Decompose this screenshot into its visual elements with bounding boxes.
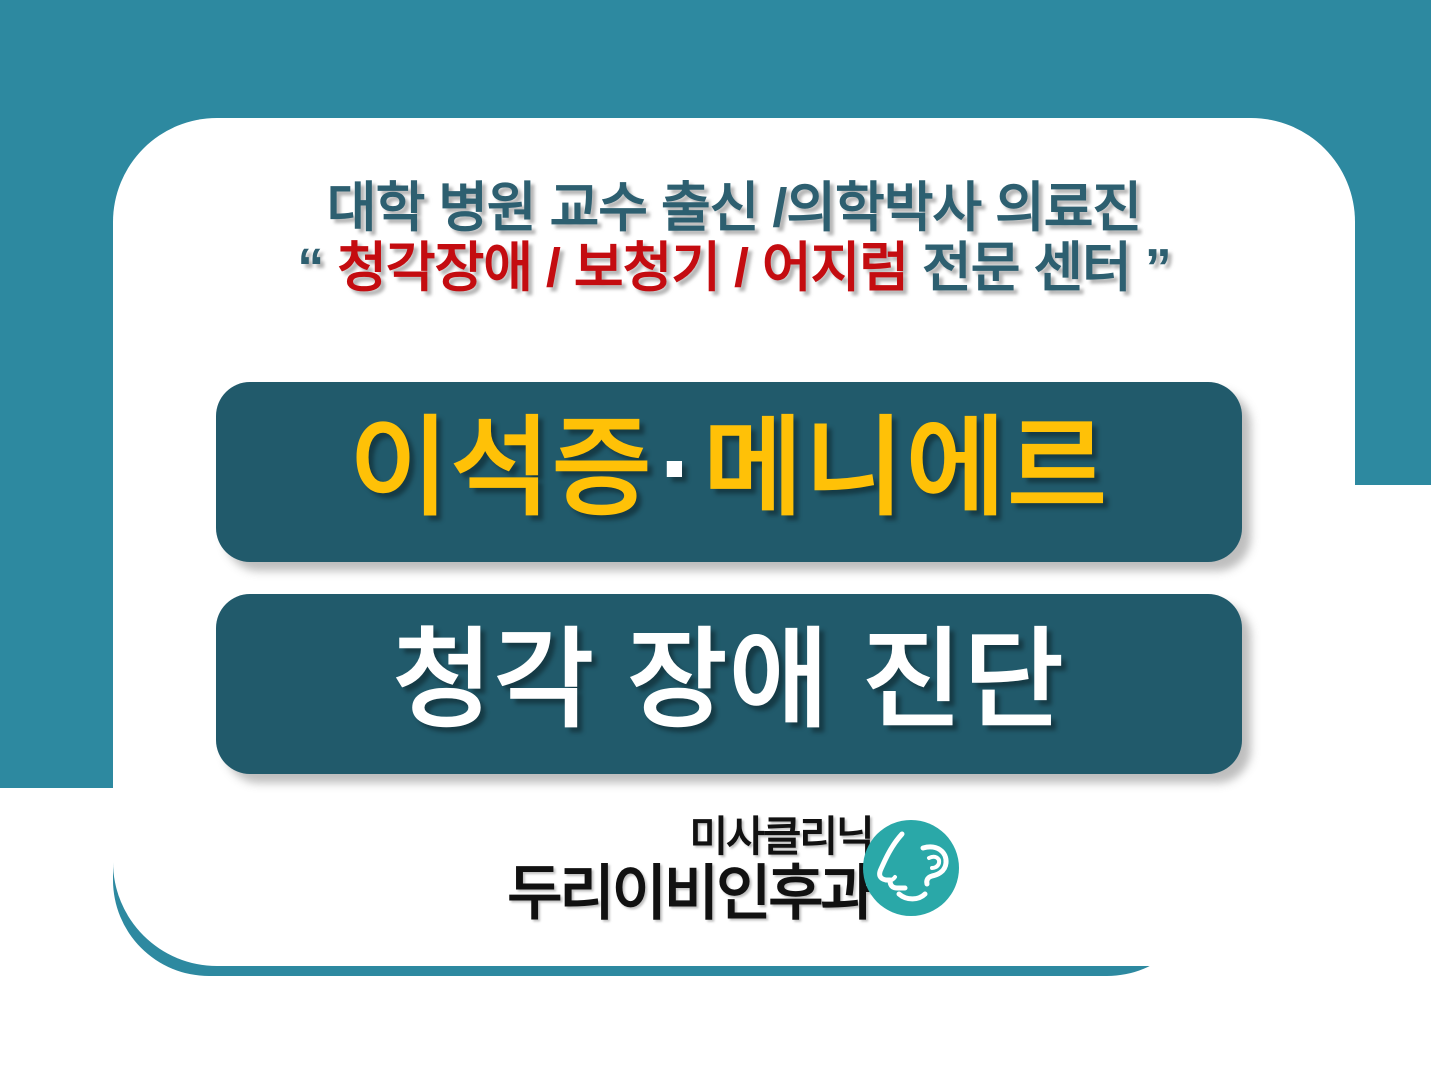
clinic-logo[interactable]: 미사클리닉 두리이비인후과: [113, 816, 1355, 924]
headline-specialties: 청각장애 / 보청기 / 어지럼: [337, 238, 908, 298]
clinic-name-line: 두리이비인후과: [507, 864, 872, 924]
content-card: 대학 병원 교수 출신 /의학박사 의료진 “ 청각장애 / 보청기 / 어지럼…: [113, 118, 1355, 966]
clinic-brand-line: 미사클리닉: [690, 816, 873, 858]
hearing-pill-label: 청각 장애 진단: [393, 626, 1065, 734]
headline-block: 대학 병원 교수 출신 /의학박사 의료진 “ 청각장애 / 보청기 / 어지럼…: [113, 180, 1355, 296]
headline-line-1: 대학 병원 교수 출신 /의학박사 의료진: [113, 180, 1355, 236]
headline-center-label: 전문 센터: [922, 238, 1131, 298]
close-quote: ”: [1145, 238, 1171, 298]
dizziness-pill[interactable]: 이석증·메니에르: [216, 382, 1242, 562]
open-quote: “: [297, 238, 323, 298]
dizziness-pill-label: 이석증·메니에르: [349, 414, 1109, 522]
separator-dot-icon: ·: [653, 407, 703, 528]
clinic-logo-wordmark: 미사클리닉 두리이비인후과: [507, 816, 874, 924]
dizziness-pill-label-right: 메니에르: [703, 407, 1108, 528]
hearing-pill[interactable]: 청각 장애 진단: [216, 594, 1242, 774]
poster-canvas: 대학 병원 교수 출신 /의학박사 의료진 “ 청각장애 / 보청기 / 어지럼…: [0, 0, 1431, 1071]
ent-nose-ear-icon: [861, 818, 961, 918]
headline-line-2: “ 청각장애 / 보청기 / 어지럼 전문 센터 ”: [113, 240, 1355, 296]
dizziness-pill-label-left: 이석증: [349, 407, 653, 528]
